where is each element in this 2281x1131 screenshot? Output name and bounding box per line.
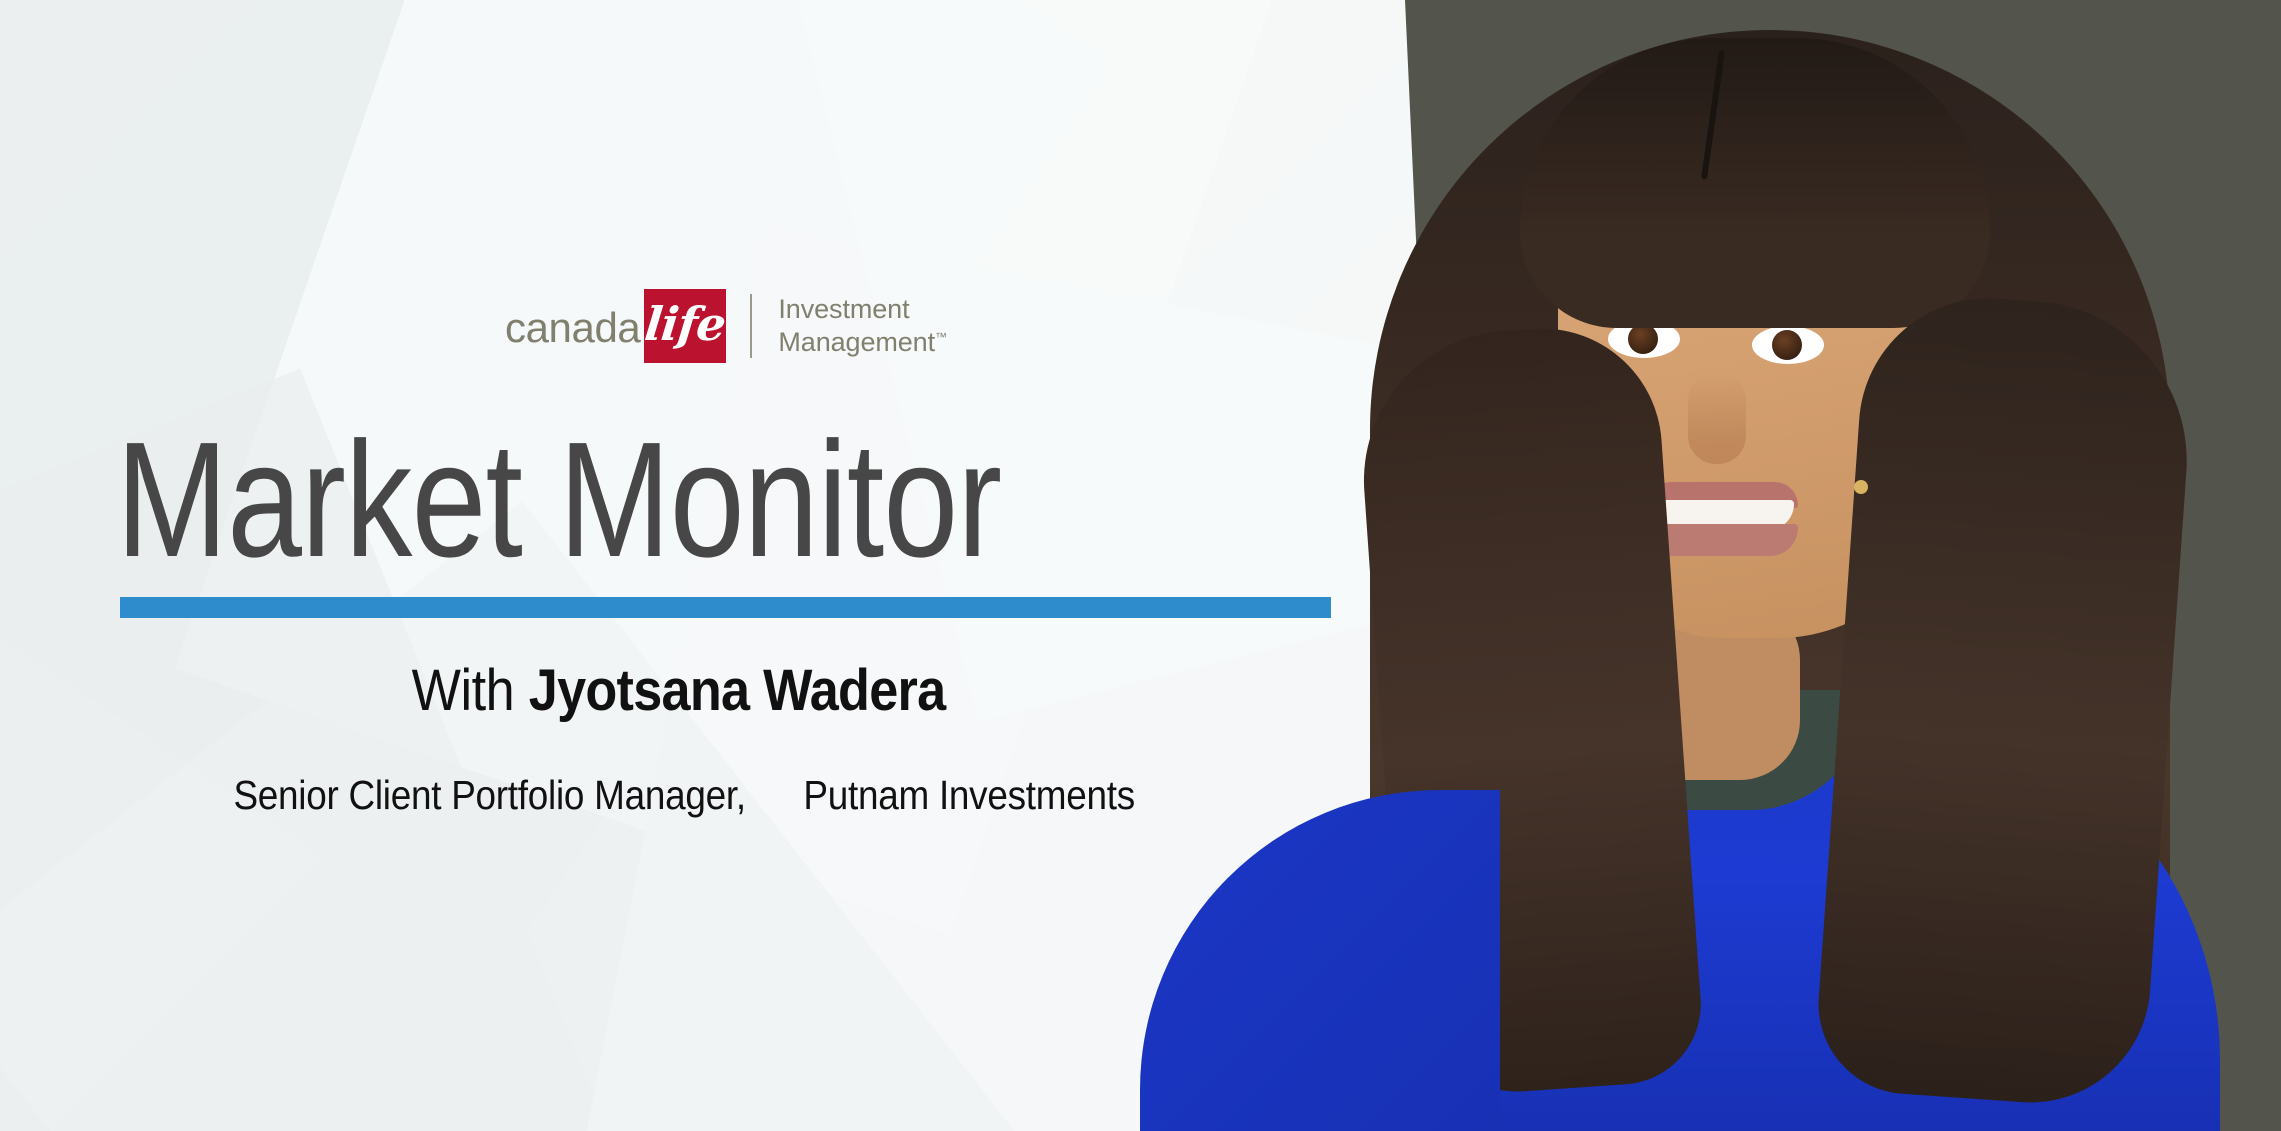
presenter-role-line2: Putnam Investments (803, 770, 1134, 820)
market-monitor-banner: canada life Investment Management™ Marke… (0, 0, 2281, 1131)
page-title: Market Monitor (116, 418, 1001, 582)
hair-strand-right (1812, 289, 2197, 1110)
logo-divider-icon (750, 294, 752, 358)
iris-left (1628, 324, 1658, 354)
logo-wordmark-canada: canada (505, 307, 640, 349)
earring (1854, 480, 1868, 494)
logo-wordmark-life: life (643, 301, 728, 347)
iris-right (1772, 330, 1802, 360)
eye-right (1752, 326, 1824, 364)
hair-top (1520, 38, 1990, 328)
presenter-name: Jyotsana Wadera (529, 658, 946, 723)
logo-division-line1: Investment (778, 294, 909, 324)
logo-life-box: life (644, 289, 726, 363)
presenter-role: Senior Client Portfolio Manager, Putnam … (0, 770, 1358, 820)
canada-life-logo: canada life Investment Management™ (505, 285, 947, 367)
portrait-photo (1240, 0, 2281, 1131)
presenter-prefix: With (412, 658, 515, 723)
presenter-role-line1: Senior Client Portfolio Manager, (233, 770, 745, 820)
logo-division-line2: Management (778, 327, 935, 357)
logo-division-name: Investment Management™ (778, 293, 947, 359)
trademark-symbol: ™ (935, 330, 947, 344)
title-underline-rule (120, 597, 1331, 618)
nose (1688, 372, 1746, 464)
presenter-line: With Jyotsana Wadera (0, 662, 1358, 720)
